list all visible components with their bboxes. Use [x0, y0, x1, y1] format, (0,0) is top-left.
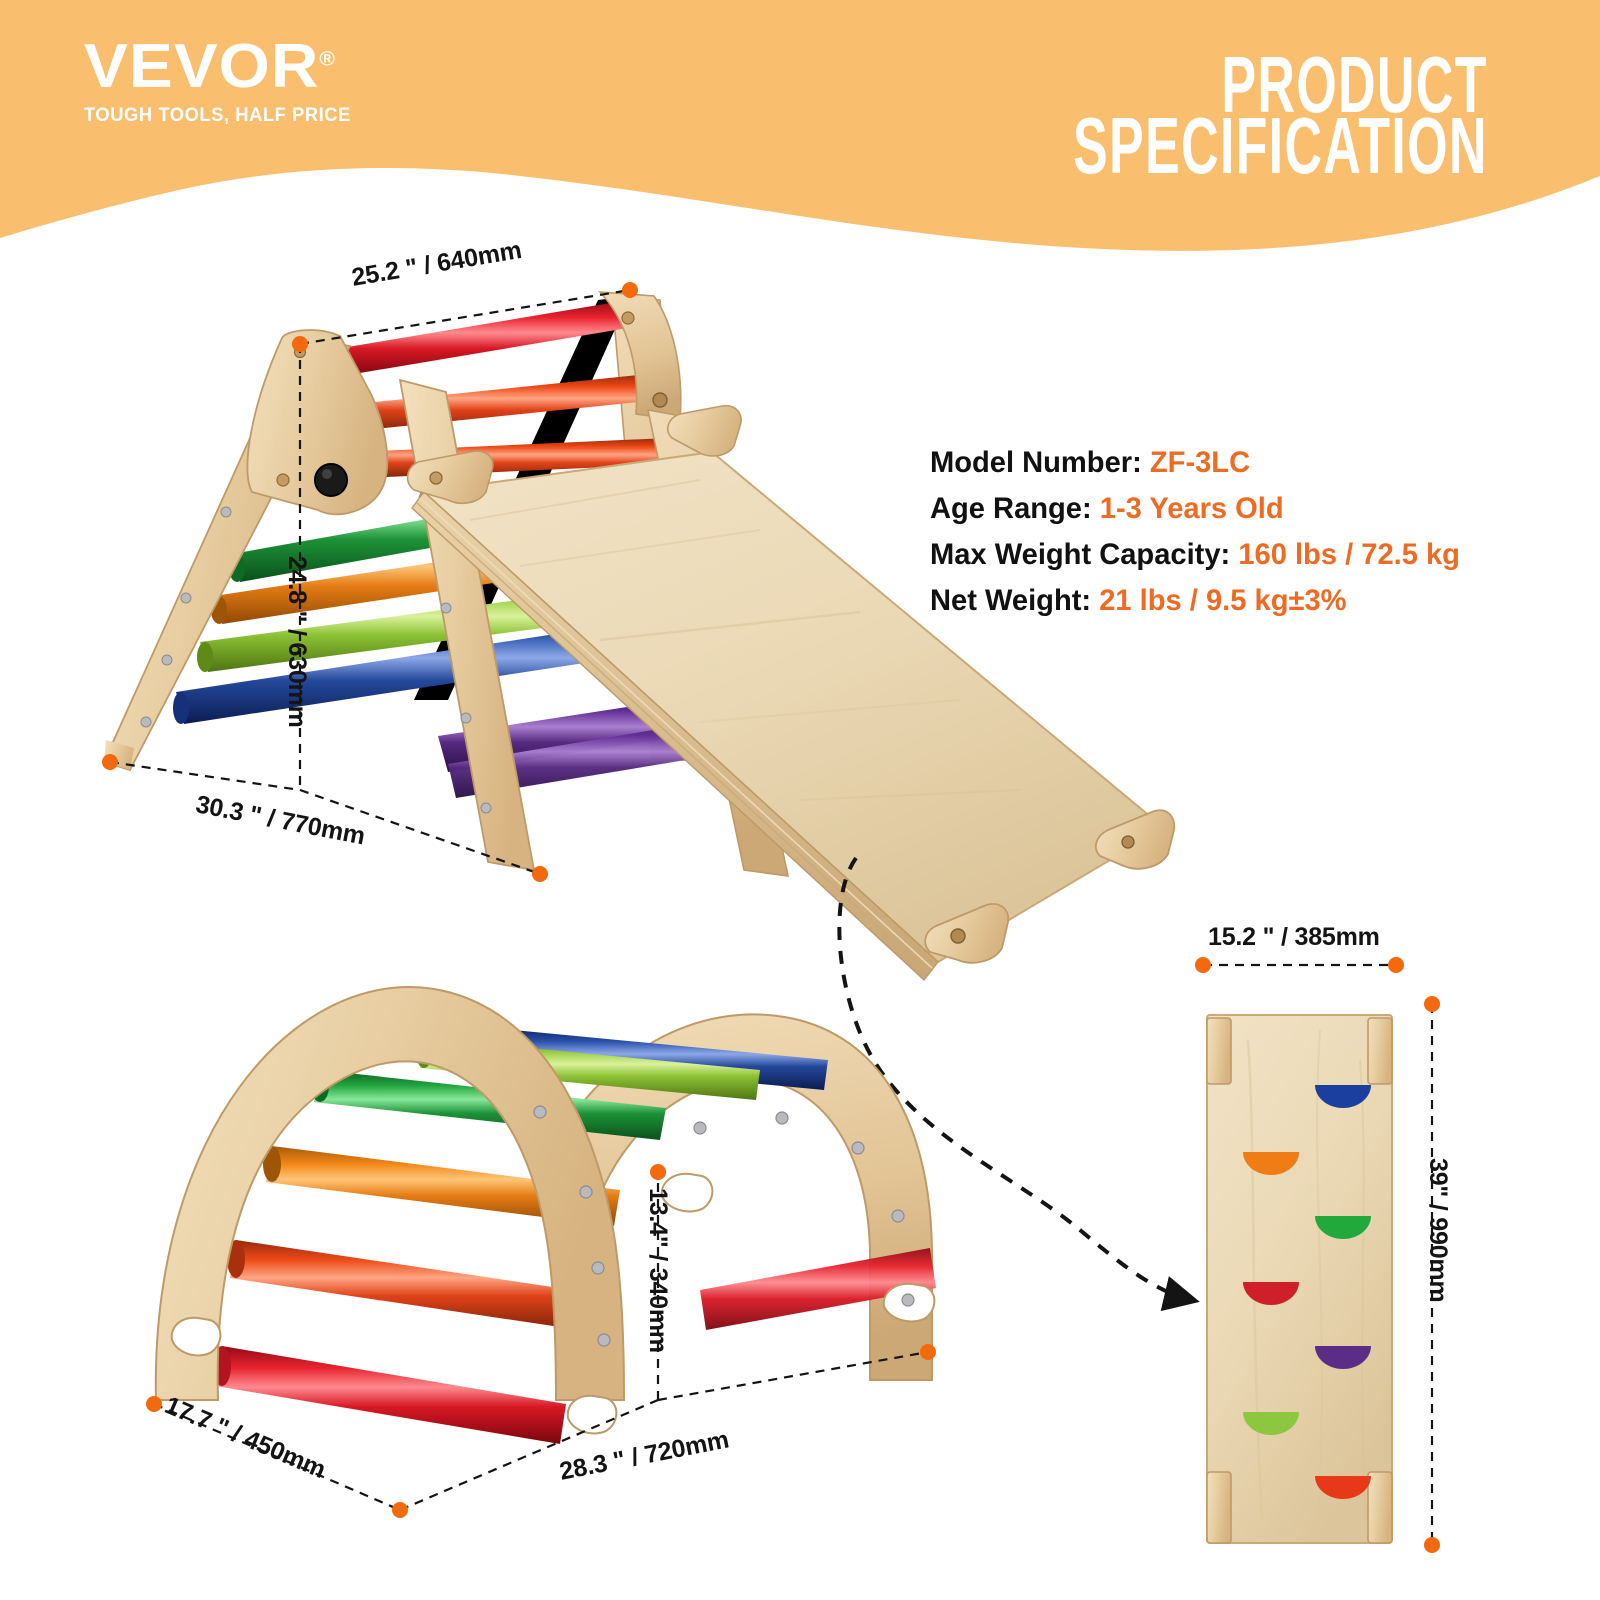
dimension-marker-dot: [920, 1344, 936, 1360]
rung-blue-7: [173, 610, 722, 724]
rung-red-1: [316, 300, 640, 378]
arch-rung-orange: [263, 1146, 620, 1226]
rung-orange-red-3: [353, 438, 676, 478]
dimension-label-board-length: 39" / 990mm: [1423, 1158, 1452, 1302]
board-dimension-lines: [1195, 957, 1440, 1553]
triangle-front-left-leg: [104, 330, 387, 770]
hold-orange: [1243, 1152, 1299, 1175]
spec-row-model: Model Number: ZF-3LC: [930, 440, 1551, 486]
header-band: VEVOR® TOUGH TOOLS, HALF PRICE PRODUCT S…: [0, 0, 1600, 260]
ramp-top-hooks: [408, 406, 741, 504]
triangle-hinge-block: [600, 292, 681, 420]
arch-rung-lime: [416, 1038, 760, 1100]
dimension-marker-dot: [622, 282, 638, 298]
dimension-label-arch-height: 13.4" / 340mm: [643, 1188, 672, 1353]
arch-rung-orange-red: [227, 1240, 586, 1330]
triangle-rungs: [173, 300, 734, 798]
arch-rung-blue: [484, 1028, 828, 1090]
rung-purple-8: [438, 694, 734, 798]
spec-label-age: Age Range:: [930, 492, 1092, 525]
triangle-rear-right-leg: [648, 410, 788, 876]
spec-row-max-weight: Max Weight Capacity: 160 lbs / 72.5 kg: [930, 532, 1551, 578]
brand-wordmark: VEVOR®: [84, 38, 336, 97]
dimension-marker-dot: [292, 336, 308, 352]
arch-rung-green: [311, 1070, 666, 1140]
triangle-front-right-leg: [400, 380, 534, 870]
dimension-marker-dot: [650, 1164, 666, 1180]
dimension-marker-dot: [392, 1502, 408, 1518]
dimension-marker-dot: [146, 1396, 162, 1412]
spec-value-net-weight: 21 lbs / 9.5 kg±3%: [1099, 584, 1346, 617]
dimension-label-arch-width: 28.3 " / 720mm: [557, 1426, 731, 1487]
hold-lime: [1243, 1412, 1299, 1435]
hold-purple: [1315, 1346, 1371, 1369]
climbing-holds: [1243, 1085, 1371, 1499]
hold-red: [1243, 1282, 1299, 1305]
dimension-label-board-width: 15.2 " / 385mm: [1208, 923, 1380, 952]
brand-tagline: TOUGH TOOLS, HALF PRICE: [84, 104, 479, 127]
dimension-label-triangle-height: 24.8 " / 630mm: [282, 556, 311, 728]
arch-far-panel: [545, 1014, 932, 1380]
rung-orange-red-2: [334, 374, 658, 432]
arch-rungs: [213, 1028, 936, 1444]
title-line-2: SPECIFICATION: [1073, 109, 1488, 187]
dimension-label-arch-depth: 17.7 " / 450mm: [160, 1391, 329, 1485]
arch-rung-red: [213, 1346, 566, 1444]
triangle-dimension-lines: [102, 282, 638, 882]
hold-green: [1315, 1216, 1371, 1239]
dimension-marker-dot: [102, 754, 118, 770]
climbing-board-illustration: [1195, 957, 1440, 1553]
vevor-logo: VEVOR® TOUGH TOOLS, HALF PRICE: [84, 38, 504, 127]
dimension-marker-dot: [1424, 1537, 1440, 1553]
connector-arrow: [839, 858, 1192, 1300]
spec-row-net-weight: Net Weight: 21 lbs / 9.5 kg±3%: [930, 578, 1551, 624]
hold-red-orange: [1315, 1476, 1371, 1499]
spec-value-age: 1-3 Years Old: [1100, 492, 1284, 525]
adjustment-knob: [315, 464, 347, 496]
product-specification-page: VEVOR® TOUGH TOOLS, HALF PRICE PRODUCT S…: [0, 0, 1600, 1600]
arch-dimension-lines: [146, 1164, 936, 1518]
ramp-bottom-hooks: [925, 810, 1174, 962]
arch-near-panel: [156, 987, 624, 1433]
dimension-marker-dot: [1195, 957, 1211, 973]
spec-value-max-weight: 160 lbs / 72.5 kg: [1238, 538, 1460, 571]
dimension-marker-dot: [1388, 957, 1404, 973]
dimension-marker-dot: [532, 866, 548, 882]
spec-label-net-weight: Net Weight:: [930, 584, 1091, 617]
page-title: PRODUCT SPECIFICATION: [994, 48, 1488, 170]
rung-lime-6: [197, 576, 710, 672]
arch-handle-cutouts: [662, 1174, 935, 1322]
spec-label-max-weight: Max Weight Capacity:: [930, 538, 1230, 571]
spec-row-age: Age Range: 1-3 Years Old: [930, 486, 1551, 532]
specification-list: Model Number: ZF-3LC Age Range: 1-3 Year…: [930, 440, 1570, 624]
registered-mark: ®: [319, 48, 336, 70]
dimension-marker-dot: [1424, 996, 1440, 1012]
dimension-label-triangle-base: 30.3 " / 770mm: [193, 790, 367, 851]
spec-value-model: ZF-3LC: [1150, 446, 1250, 479]
hold-blue: [1315, 1085, 1371, 1108]
spec-label-model: Model Number:: [930, 446, 1142, 479]
triangle-far-frame: [414, 296, 700, 760]
